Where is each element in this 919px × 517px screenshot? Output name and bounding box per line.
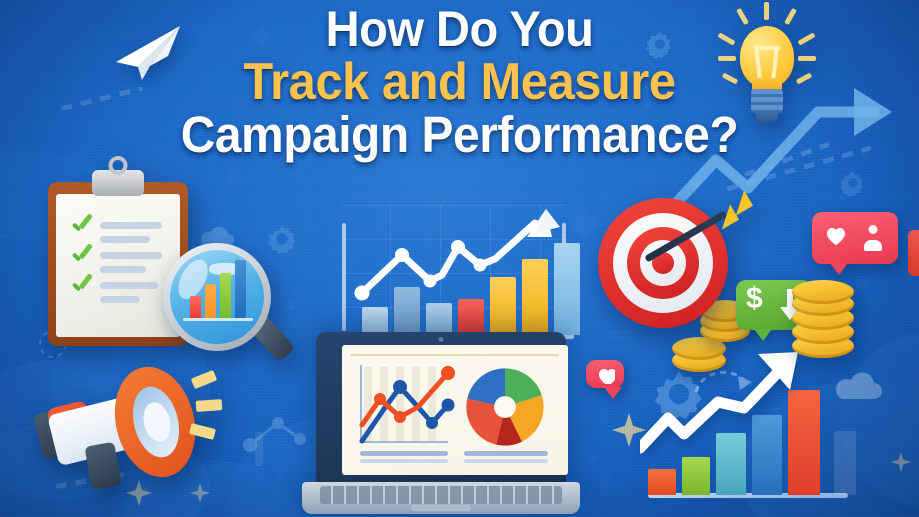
- heart-like-bubble-icon: [812, 212, 898, 264]
- laptop-icon: [302, 332, 580, 517]
- person-icon: [864, 225, 882, 251]
- page-title: How Do You Track and Measure Campaign Pe…: [0, 4, 919, 162]
- trend-line-arrow-icon: [330, 193, 590, 338]
- title-line-1: How Do You: [28, 4, 892, 56]
- center-bar-chart: [330, 205, 580, 345]
- laptop-screen: [342, 345, 568, 475]
- webcam-icon: [439, 337, 444, 342]
- edge-accent: [908, 230, 919, 276]
- heart-icon: [596, 365, 615, 384]
- magnifying-glass-chart-icon: [163, 243, 271, 351]
- laptop-pie-chart: [460, 365, 550, 449]
- heart-like-bubble-icon: [586, 360, 624, 388]
- heart-icon: [824, 224, 852, 252]
- title-line-2: Track and Measure: [28, 56, 892, 110]
- network-icon: [238, 395, 308, 465]
- megaphone-icon: [30, 360, 220, 490]
- target-dartboard-icon: [598, 198, 728, 328]
- coin-stack-icon: [792, 286, 854, 358]
- dollar-sign-icon: $: [746, 284, 763, 314]
- title-line-3: Campaign Performance?: [28, 109, 892, 162]
- infographic-canvas: How Do You Track and Measure Campaign Pe…: [0, 0, 919, 517]
